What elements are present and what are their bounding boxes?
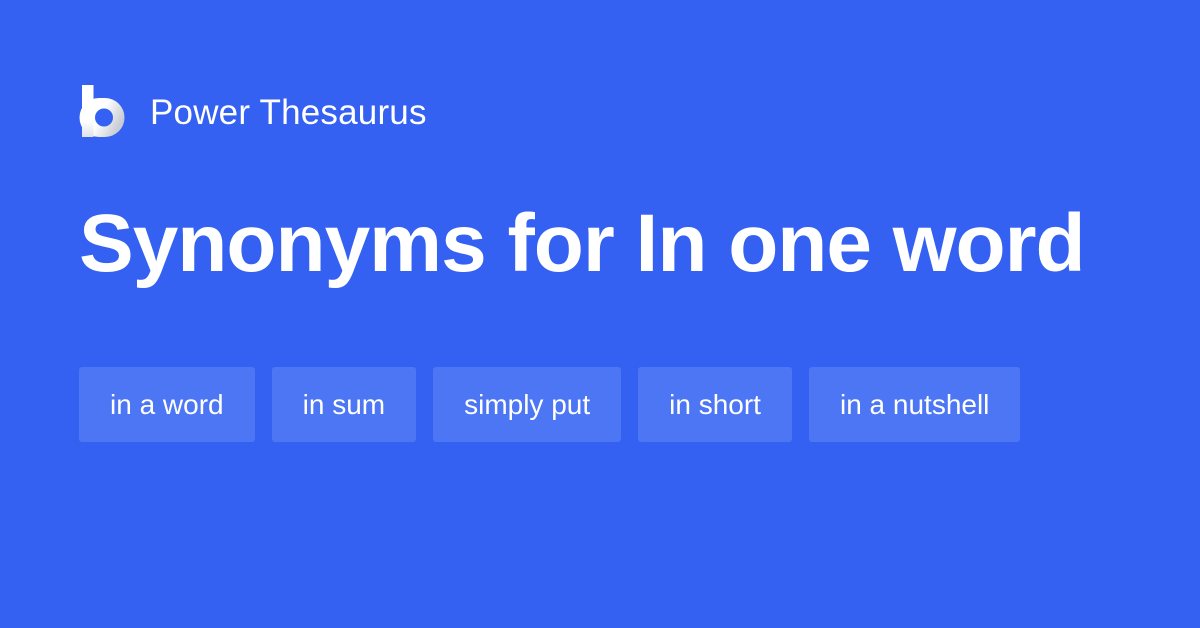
- brand-name: Power Thesaurus: [150, 95, 427, 130]
- synonym-chip-list: in a word in sum simply put in short in …: [79, 367, 1139, 442]
- synonym-chip[interactable]: in sum: [272, 367, 416, 442]
- share-card: Power Thesaurus Synonyms for In one word…: [0, 0, 1200, 628]
- power-thesaurus-b-logo-icon: [79, 85, 125, 137]
- synonym-chip[interactable]: in a word: [79, 367, 255, 442]
- synonym-chip[interactable]: in short: [638, 367, 792, 442]
- page-title: Synonyms for In one word: [79, 198, 1129, 290]
- synonym-chip[interactable]: simply put: [433, 367, 621, 442]
- synonym-chip[interactable]: in a nutshell: [809, 367, 1020, 442]
- brand-header[interactable]: Power Thesaurus: [79, 82, 427, 140]
